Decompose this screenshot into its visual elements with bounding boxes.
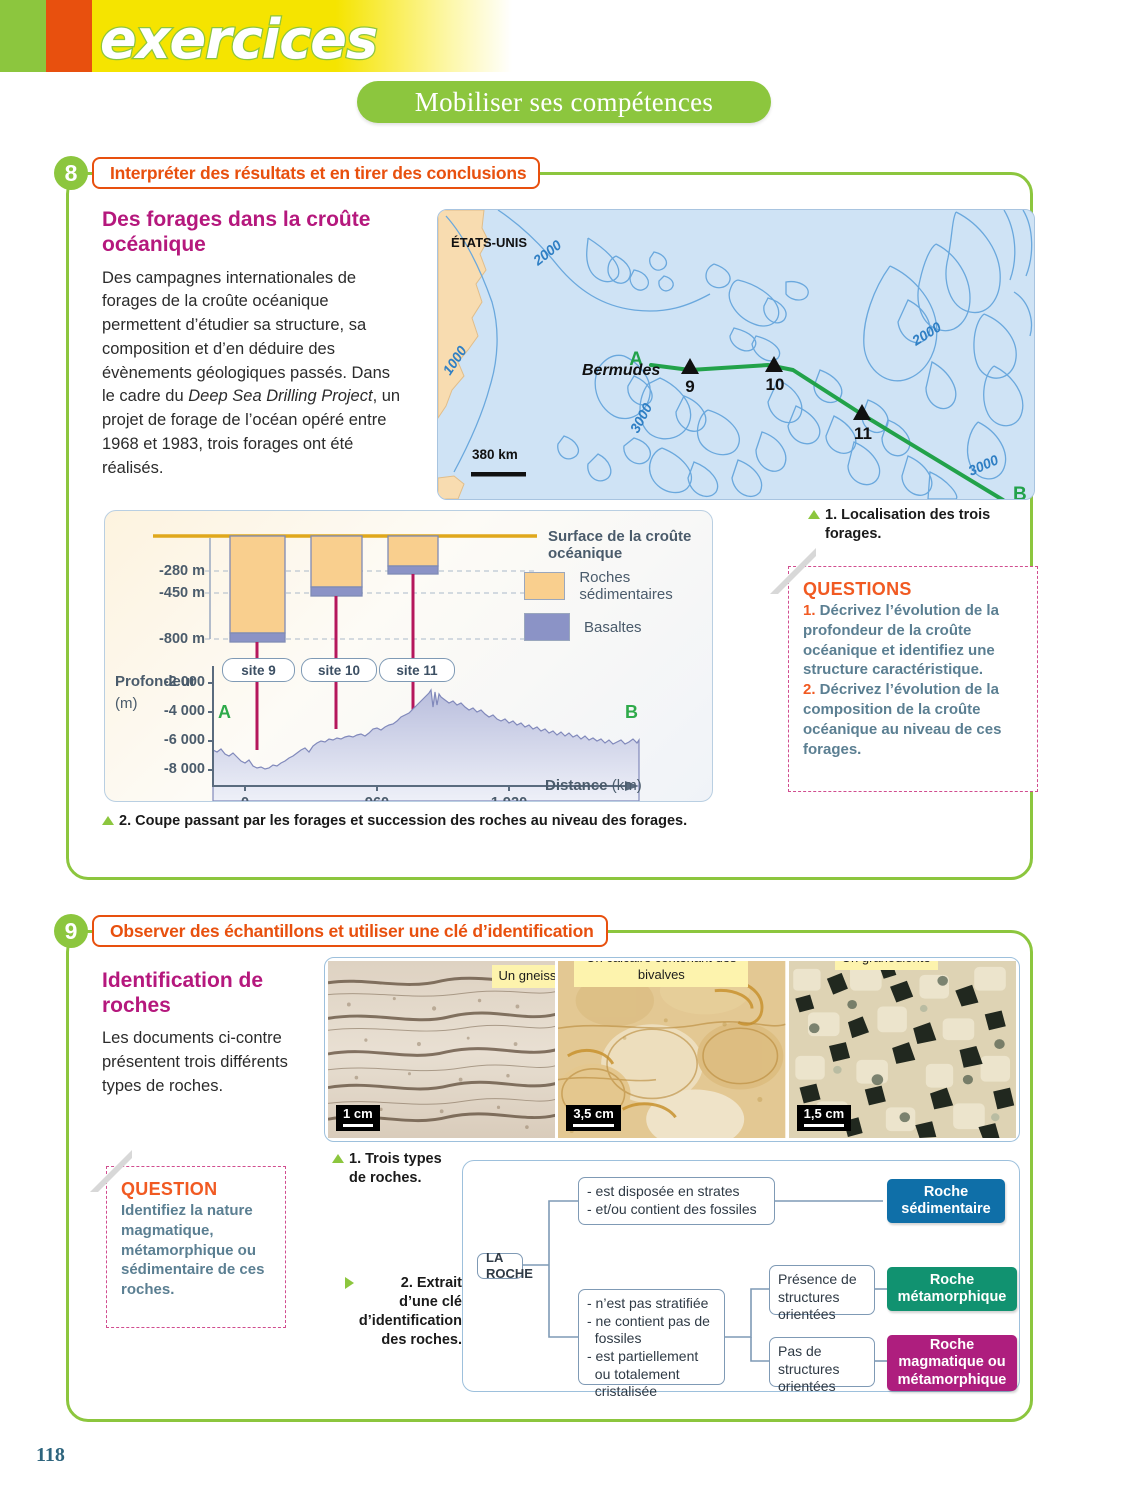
figure-2-identification-key: LA ROCHE - est disposée en strates - et/… [462, 1160, 1020, 1392]
exercise-9-title: Observer des échantillons et utiliser un… [110, 921, 594, 942]
caption-triangle-icon-2 [102, 816, 114, 825]
photo-tag-calcaire-text: Un calcaire contenant des bivalves [586, 961, 736, 982]
map-site-11-label: 11 [854, 424, 872, 443]
key-branch-b-line1: - n’est pas stratifiée [587, 1295, 716, 1313]
exercise-9-number: 9 [54, 914, 88, 948]
photo-tag-gneiss-text: Un gneiss [499, 968, 556, 983]
legend-label-sediments: Roches sédimentaires [579, 569, 712, 603]
figure-2-caption: 2. Coupe passant par les forages et succ… [102, 812, 687, 831]
question-2-number: 2. [803, 681, 816, 698]
figure-2-caption-text-ex9: 2. Extrait d’une clé d’identification de… [359, 1274, 462, 1349]
site-chip-11: site 11 [379, 658, 455, 682]
figure-1-photo-strip: Un gneiss 1 cm [324, 957, 1020, 1142]
photo-scale-gneiss: 1 cm [336, 1105, 380, 1131]
y-tick-4000: -4 000 [133, 703, 205, 719]
map-scale-bar [471, 472, 526, 477]
legend-item-basalts: Basaltes [524, 613, 642, 641]
key-branch-b-line2: - ne contient pas de fossiles [587, 1313, 716, 1348]
question-2-text: Décrivez l’évolution de la composition d… [803, 681, 1001, 757]
photo-scale-granodiorite: 1,5 cm [797, 1105, 851, 1131]
key-branch-b-line3: - est partiellement ou totalement crista… [587, 1348, 716, 1401]
questions-box-fold-ex8 [770, 548, 816, 594]
doc-body-forages: Des campagnes internationales de forages… [102, 267, 402, 481]
axis-x-title: Distance (km) [545, 777, 642, 794]
key-sub1-box: Présence destructuresorientées [769, 1265, 875, 1315]
depth-tick-280: -280 m [135, 563, 205, 579]
key-result-sedimentaire: Rochesédimentaire [887, 1179, 1005, 1223]
map-site-10-label: 10 [766, 375, 785, 394]
doc-title-identification: Identification de roches [102, 968, 322, 1018]
figure-1-map: 2000 1000 3000 2000 3000 9 10 11 A B ÉTA… [437, 209, 1035, 500]
doc-title-forages: Des forages dans la croûte océanique [102, 208, 402, 258]
map-svg: 2000 1000 3000 2000 3000 9 10 11 A B [438, 210, 1034, 499]
key-branch-a-line1: - est disposée en strates [587, 1183, 766, 1201]
key-sub2-box: Pas destructuresorientées [769, 1337, 875, 1387]
question-item-1: 1. Décrivez l’évolution de la profondeur… [803, 601, 1023, 680]
photo-scale-calcaire-text: 3,5 cm [573, 1106, 613, 1121]
section-banner: Mobiliser ses compétences [357, 81, 771, 123]
exercise-9-title-pill: Observer des échantillons et utiliser un… [92, 915, 608, 947]
drill-columns [230, 536, 438, 642]
figure-1-caption-text-ex9: 1. Trois types de roches. [349, 1150, 462, 1188]
legend-item-sediments: Roches sédimentaires [524, 569, 712, 603]
key-result-metamorphique: Rochemétamorphique [887, 1267, 1017, 1311]
site-chip-10: site 10 [301, 658, 377, 682]
exercise-9-block: 9 Observer des échantillons et utiliser … [66, 916, 1033, 1422]
page-title: exercices [100, 8, 377, 71]
figure-2-section-panel: Surface de la croûte océanique -280 m -4… [104, 510, 713, 802]
photo-granodiorite: Un granodiorite 1,5 cm [789, 961, 1016, 1138]
x-tick-960: 960 [355, 795, 399, 802]
photo-tag-granodiorite: Un granodiorite [835, 961, 938, 970]
page-number: 118 [36, 1444, 65, 1467]
profile-point-a: A [218, 702, 231, 723]
photo-gneiss: Un gneiss 1 cm [328, 961, 555, 1138]
exercise-8-number: 8 [54, 156, 88, 190]
site-chip-9: site 9 [222, 658, 295, 682]
figure-1-caption-ex9: 1. Trois types de roches. [332, 1150, 462, 1188]
depth-tick-800: -800 m [135, 631, 205, 647]
question-1-number: 1. [803, 602, 816, 619]
legend-swatch-basalts [524, 613, 570, 641]
caption-triangle-icon-ex9-1 [332, 1154, 344, 1163]
key-root-box: LA ROCHE [477, 1253, 523, 1279]
photo-scale-granodiorite-text: 1,5 cm [804, 1106, 844, 1121]
question-text-ex9: Identifiez la nature magmatique, métamor… [121, 1201, 271, 1300]
map-site-9-label: 9 [685, 377, 694, 396]
photo-scale-calcaire: 3,5 cm [566, 1105, 620, 1131]
figure-2-caption-text: 2. Coupe passant par les forages et succ… [119, 812, 687, 831]
exercise-8-text-column: Des forages dans la croûte océanique Des… [102, 208, 402, 480]
x-tick-1920: 1 920 [483, 795, 535, 802]
doc-body-part1: Des campagnes internationales de forages… [102, 269, 390, 406]
exercise-8-block: 8 Interpréter des résultats et en tirer … [66, 158, 1033, 880]
doc-body-identification: Les documents ci-contre présentent trois… [102, 1027, 322, 1098]
key-branch-a-line2: - et/ou contient des fossiles [587, 1201, 766, 1219]
photo-tag-calcaire: Un calcaire contenant des bivalves [574, 961, 748, 987]
questions-box-ex8: QUESTIONS 1. Décrivez l’évolution de la … [788, 566, 1038, 792]
y-tick-2000: -2 000 [133, 674, 205, 690]
y-tick-8000: -8 000 [133, 761, 205, 777]
map-scale-label: 380 km [472, 447, 518, 462]
map-country-label: ÉTATS-UNIS [451, 235, 527, 250]
legend-swatch-sediments [524, 572, 565, 600]
legend-label-basalts: Basaltes [584, 619, 642, 636]
exercise-8-title: Interpréter des résultats et en tirer de… [110, 163, 526, 184]
question-1-text: Décrivez l’évolution de la profondeur de… [803, 602, 999, 678]
photo-calcaire: Un calcaire contenant des bivalves 3,5 c… [558, 961, 785, 1138]
profile-point-b: B [625, 702, 638, 723]
figure-1-caption-text: 1. Localisation des trois forages. [825, 506, 1033, 544]
question-heading-ex9: QUESTION [121, 1179, 271, 1200]
axis-x-title-text: Distance [545, 777, 608, 794]
caption-arrow-icon-ex9-2 [345, 1277, 354, 1289]
question-box-ex9: QUESTION Identifiez la nature magmatique… [106, 1166, 286, 1328]
photo-tag-gneiss: Un gneiss [492, 965, 556, 988]
figure-1-caption: 1. Localisation des trois forages. [808, 506, 1033, 544]
photo-scale-gneiss-text: 1 cm [343, 1106, 373, 1121]
question-item-2: 2. Décrivez l’évolution de la compositio… [803, 680, 1023, 759]
photo-tag-granodiorite-text: Un granodiorite [842, 961, 931, 965]
axis-x-unit-text: (km) [612, 777, 642, 794]
surface-label: Surface de la croûte océanique [548, 528, 712, 562]
key-branch-a-box: - est disposée en strates - et/ou contie… [578, 1177, 775, 1225]
doc-body-italic: Deep Sea Drilling Project [188, 387, 372, 405]
depth-tick-450: -450 m [135, 585, 205, 601]
caption-triangle-icon [808, 510, 820, 519]
exercise-9-text-column: Identification de roches Les documents c… [102, 968, 322, 1099]
map-island-label: Bermudes [582, 362, 660, 380]
exercise-8-title-pill: Interpréter des résultats et en tirer de… [92, 157, 540, 189]
question-box-fold-ex9 [90, 1150, 132, 1192]
section-banner-label: Mobiliser ses compétences [415, 87, 713, 118]
key-branch-b-box: - n’est pas stratifiée - ne contient pas… [578, 1289, 725, 1385]
key-result-magmatique: Rochemagmatique oumétamorphique [887, 1335, 1017, 1391]
questions-heading: QUESTIONS [803, 579, 1023, 600]
header-color-bar-green [0, 0, 46, 72]
map-point-b-label: B [1013, 484, 1027, 499]
y-tick-6000: -6 000 [133, 732, 205, 748]
x-tick-0: 0 [225, 795, 265, 802]
header-color-bar-orange [46, 0, 92, 72]
figure-2-caption-ex9: 2. Extrait d’une clé d’identification de… [356, 1274, 462, 1349]
